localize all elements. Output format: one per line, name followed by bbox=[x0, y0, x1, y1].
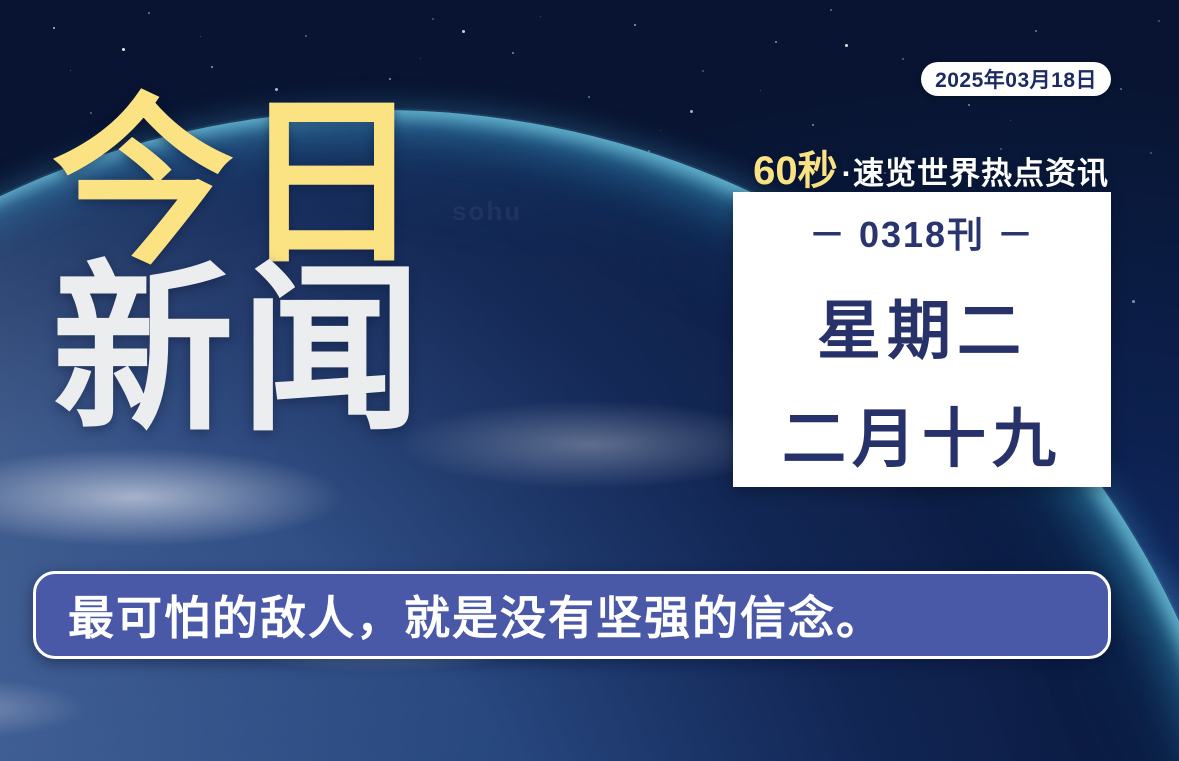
issue-info-card: － 0318刊 － 星期二 二月十九 bbox=[733, 192, 1111, 487]
weekday-label: 星期二 bbox=[817, 280, 1027, 372]
quote-text: 最可怕的敌人，就是没有坚强的信念。 bbox=[36, 582, 884, 648]
lunar-date-label: 二月十九 bbox=[782, 388, 1062, 480]
tagline-seconds: 60秒 bbox=[753, 138, 838, 196]
starfield-faint-icon bbox=[0, 0, 1, 1]
page-title-line-2: 新闻 bbox=[52, 263, 428, 438]
issue-number: － 0318刊 － bbox=[809, 206, 1035, 258]
news-poster: sohu 今日 新闻 2025年03月18日 60秒 ·速览世界热点资讯 － 0… bbox=[0, 0, 1179, 761]
page-title-line-1: 今日 bbox=[52, 96, 428, 271]
tagline-description: ·速览世界热点资讯 bbox=[842, 148, 1109, 193]
date-badge: 2025年03月18日 bbox=[921, 62, 1111, 96]
page-title: 今日 新闻 bbox=[52, 96, 428, 437]
quote-bar: 最可怕的敌人，就是没有坚强的信念。 bbox=[33, 571, 1111, 659]
tagline: 60秒 ·速览世界热点资讯 bbox=[753, 138, 1109, 196]
